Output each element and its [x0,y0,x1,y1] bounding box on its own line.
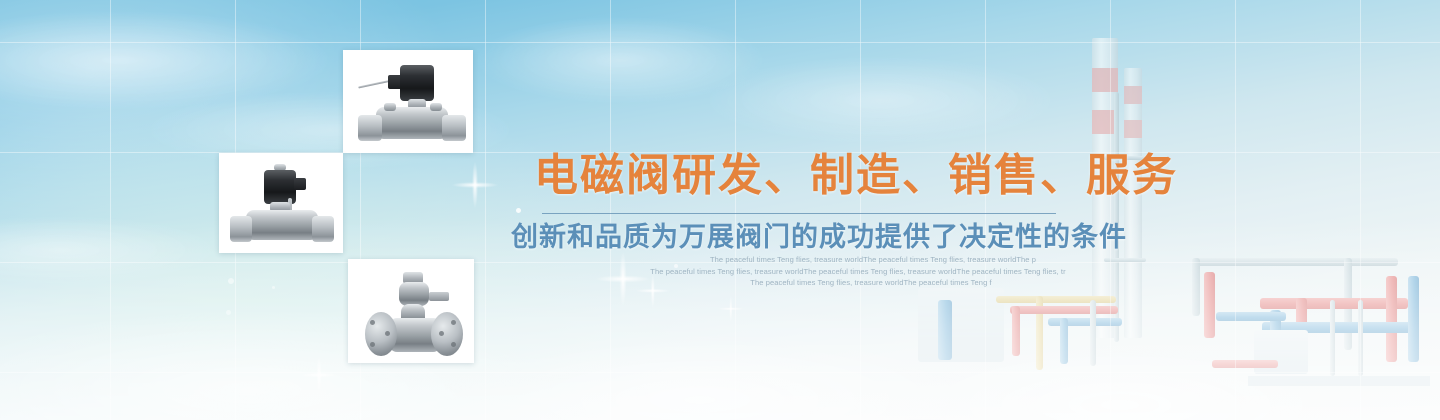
valve-inlet-port [358,115,382,141]
valve-outlet-port [442,115,466,141]
valve-body [376,107,448,139]
flange-bolt-hole [451,342,456,347]
flange-bolt-hole [370,320,375,325]
valve-flange-right [431,312,463,356]
flange-bolt-hole [439,331,444,336]
flange-bolt-hole [370,342,375,347]
bokeh-dot [226,310,231,315]
bokeh-dot [272,286,275,289]
decorative-blurb: The peaceful times Teng flies, treasure … [648,254,1068,289]
product-image-solenoid-valve-flanged [355,266,467,356]
valve-cap [430,103,442,111]
product-tile-2[interactable] [219,153,343,253]
bokeh-dot [228,278,234,284]
valve-cap [384,103,396,111]
valve-connector [294,178,306,190]
product-tile-1[interactable] [343,50,473,153]
valve-actuator [399,282,429,306]
valve-side-port [429,292,449,301]
title-divider [542,213,1056,214]
flange-bolt-hole [451,320,456,325]
product-tile-3[interactable] [348,259,474,363]
valve-solenoid-coil [400,65,434,101]
valve-flange-left [365,312,397,356]
valve-lead-wire [358,79,392,88]
blurb-line-3: The peaceful times Teng flies, treasure … [674,277,1068,289]
page-subtitle: 创新和品质为万展阀门的成功提供了决定性的条件 [511,222,1127,252]
mist-overlay [0,0,1440,420]
hero-banner: 电磁阀研发、制造、销售、服务 创新和品质为万展阀门的成功提供了决定性的条件 Th… [0,0,1440,420]
valve-inlet-port [230,216,252,242]
page-title: 电磁阀研发、制造、销售、服务 [534,152,1178,200]
flange-bolt-hole [385,331,390,336]
blurb-line-1: The peaceful times Teng flies, treasure … [678,254,1068,266]
product-image-solenoid-valve-threaded-black-coil [350,57,466,146]
bokeh-dot [516,208,521,213]
blurb-line-2: The peaceful times Teng flies, treasure … [648,266,1068,278]
valve-outlet-port [312,216,334,242]
product-image-solenoid-valve-threaded-angled [226,160,336,246]
valve-body [246,210,318,240]
